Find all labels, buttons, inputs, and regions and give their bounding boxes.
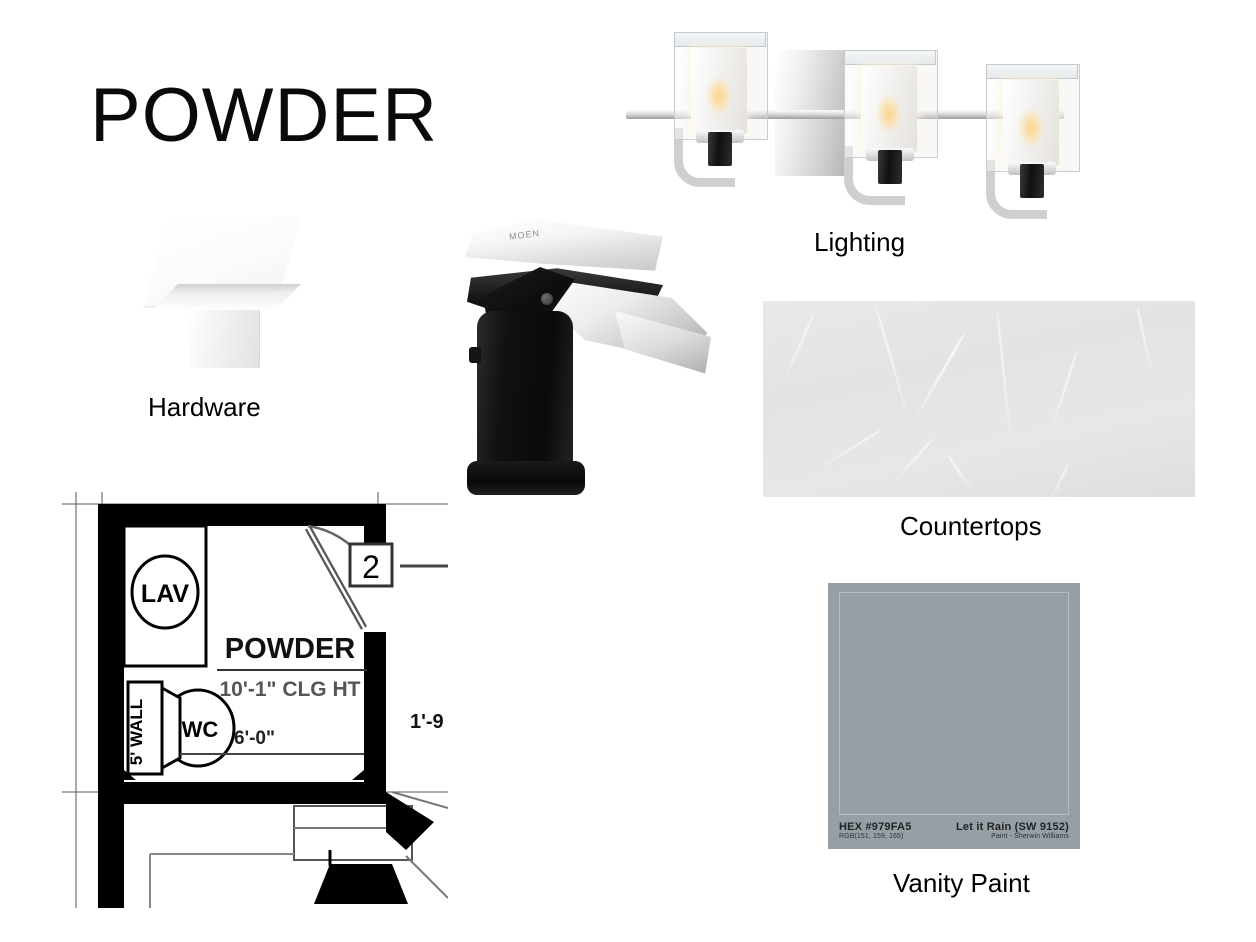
paint-brand-label: Paint - Sherwin Williams [991,833,1069,840]
plan-room-label: POWDER [225,633,356,665]
light-head [838,50,942,215]
stone-vein [1050,463,1069,500]
light-socket-shape [708,132,732,166]
light-glass-top-shape [986,64,1078,79]
stone-vein [1136,306,1152,371]
light-head [668,32,772,197]
paint-color-name: Let it Rain (SW 9152) [956,821,1069,833]
hardware-image [137,214,309,369]
hardware-caption: Hardware [148,392,261,423]
paint-hex-label: HEX #979FA5 [839,821,912,833]
light-glass-top-shape [844,50,936,65]
plan-stair-wedge [314,864,408,904]
floor-plan-drawing: LAV WC 5' WALL POWDER 10'-1" CLG HT 6'-0… [62,492,448,908]
faucet-screw-shape [541,293,553,305]
plan-angle-guide [406,856,448,898]
vanity-paint-caption: Vanity Paint [893,868,1030,899]
faucet-side-button-shape [469,347,481,363]
light-socket-shape [1020,164,1044,198]
plan-wc-label: WC [182,717,219,742]
light-bulb-glow-shape [1018,108,1044,148]
plan-dimension-right: 1'-9 [410,711,444,733]
faucet-base-shape [467,461,585,495]
vanity-paint-swatch: HEX #979FA5 Let it Rain (SW 9152) RGB(15… [828,583,1080,849]
stone-vein [1050,351,1078,432]
stone-vein [875,305,909,419]
stone-vein [996,311,1012,440]
stone-vein [947,454,973,492]
knob-highlight-shape [149,218,289,226]
stone-vein [894,438,934,482]
paint-inner-frame [839,592,1069,815]
stone-vein [822,429,882,468]
plan-lav-label: LAV [141,580,189,608]
lighting-image [620,22,1070,207]
light-bulb-glow-shape [706,76,732,116]
light-glass-top-shape [674,32,766,47]
light-head [980,64,1084,229]
plan-dimension-6ft: 6'-0" [234,728,275,749]
light-socket-shape [878,150,902,184]
paint-rgb-label: RGB(151, 159, 165) [839,833,903,840]
faucet-image: MOEN [455,215,720,500]
paint-meta: HEX #979FA5 Let it Rain (SW 9152) RGB(15… [839,815,1069,840]
plan-wc-link [162,688,180,768]
floor-plan-image: LAV WC 5' WALL POWDER 10'-1" CLG HT 6'-0… [62,492,448,908]
plan-ceiling-height: 10'-1" CLG HT [220,678,361,701]
lighting-caption: Lighting [814,227,905,258]
plan-wall-note: 5' WALL [127,699,146,765]
page-title: POWDER [90,78,438,154]
stone-vein [784,312,815,379]
light-bulb-glow-shape [876,94,902,134]
countertops-swatch [763,301,1195,497]
plan-door-tag-number: 2 [362,549,380,585]
countertops-caption: Countertops [900,511,1042,542]
stone-vein [915,333,966,418]
